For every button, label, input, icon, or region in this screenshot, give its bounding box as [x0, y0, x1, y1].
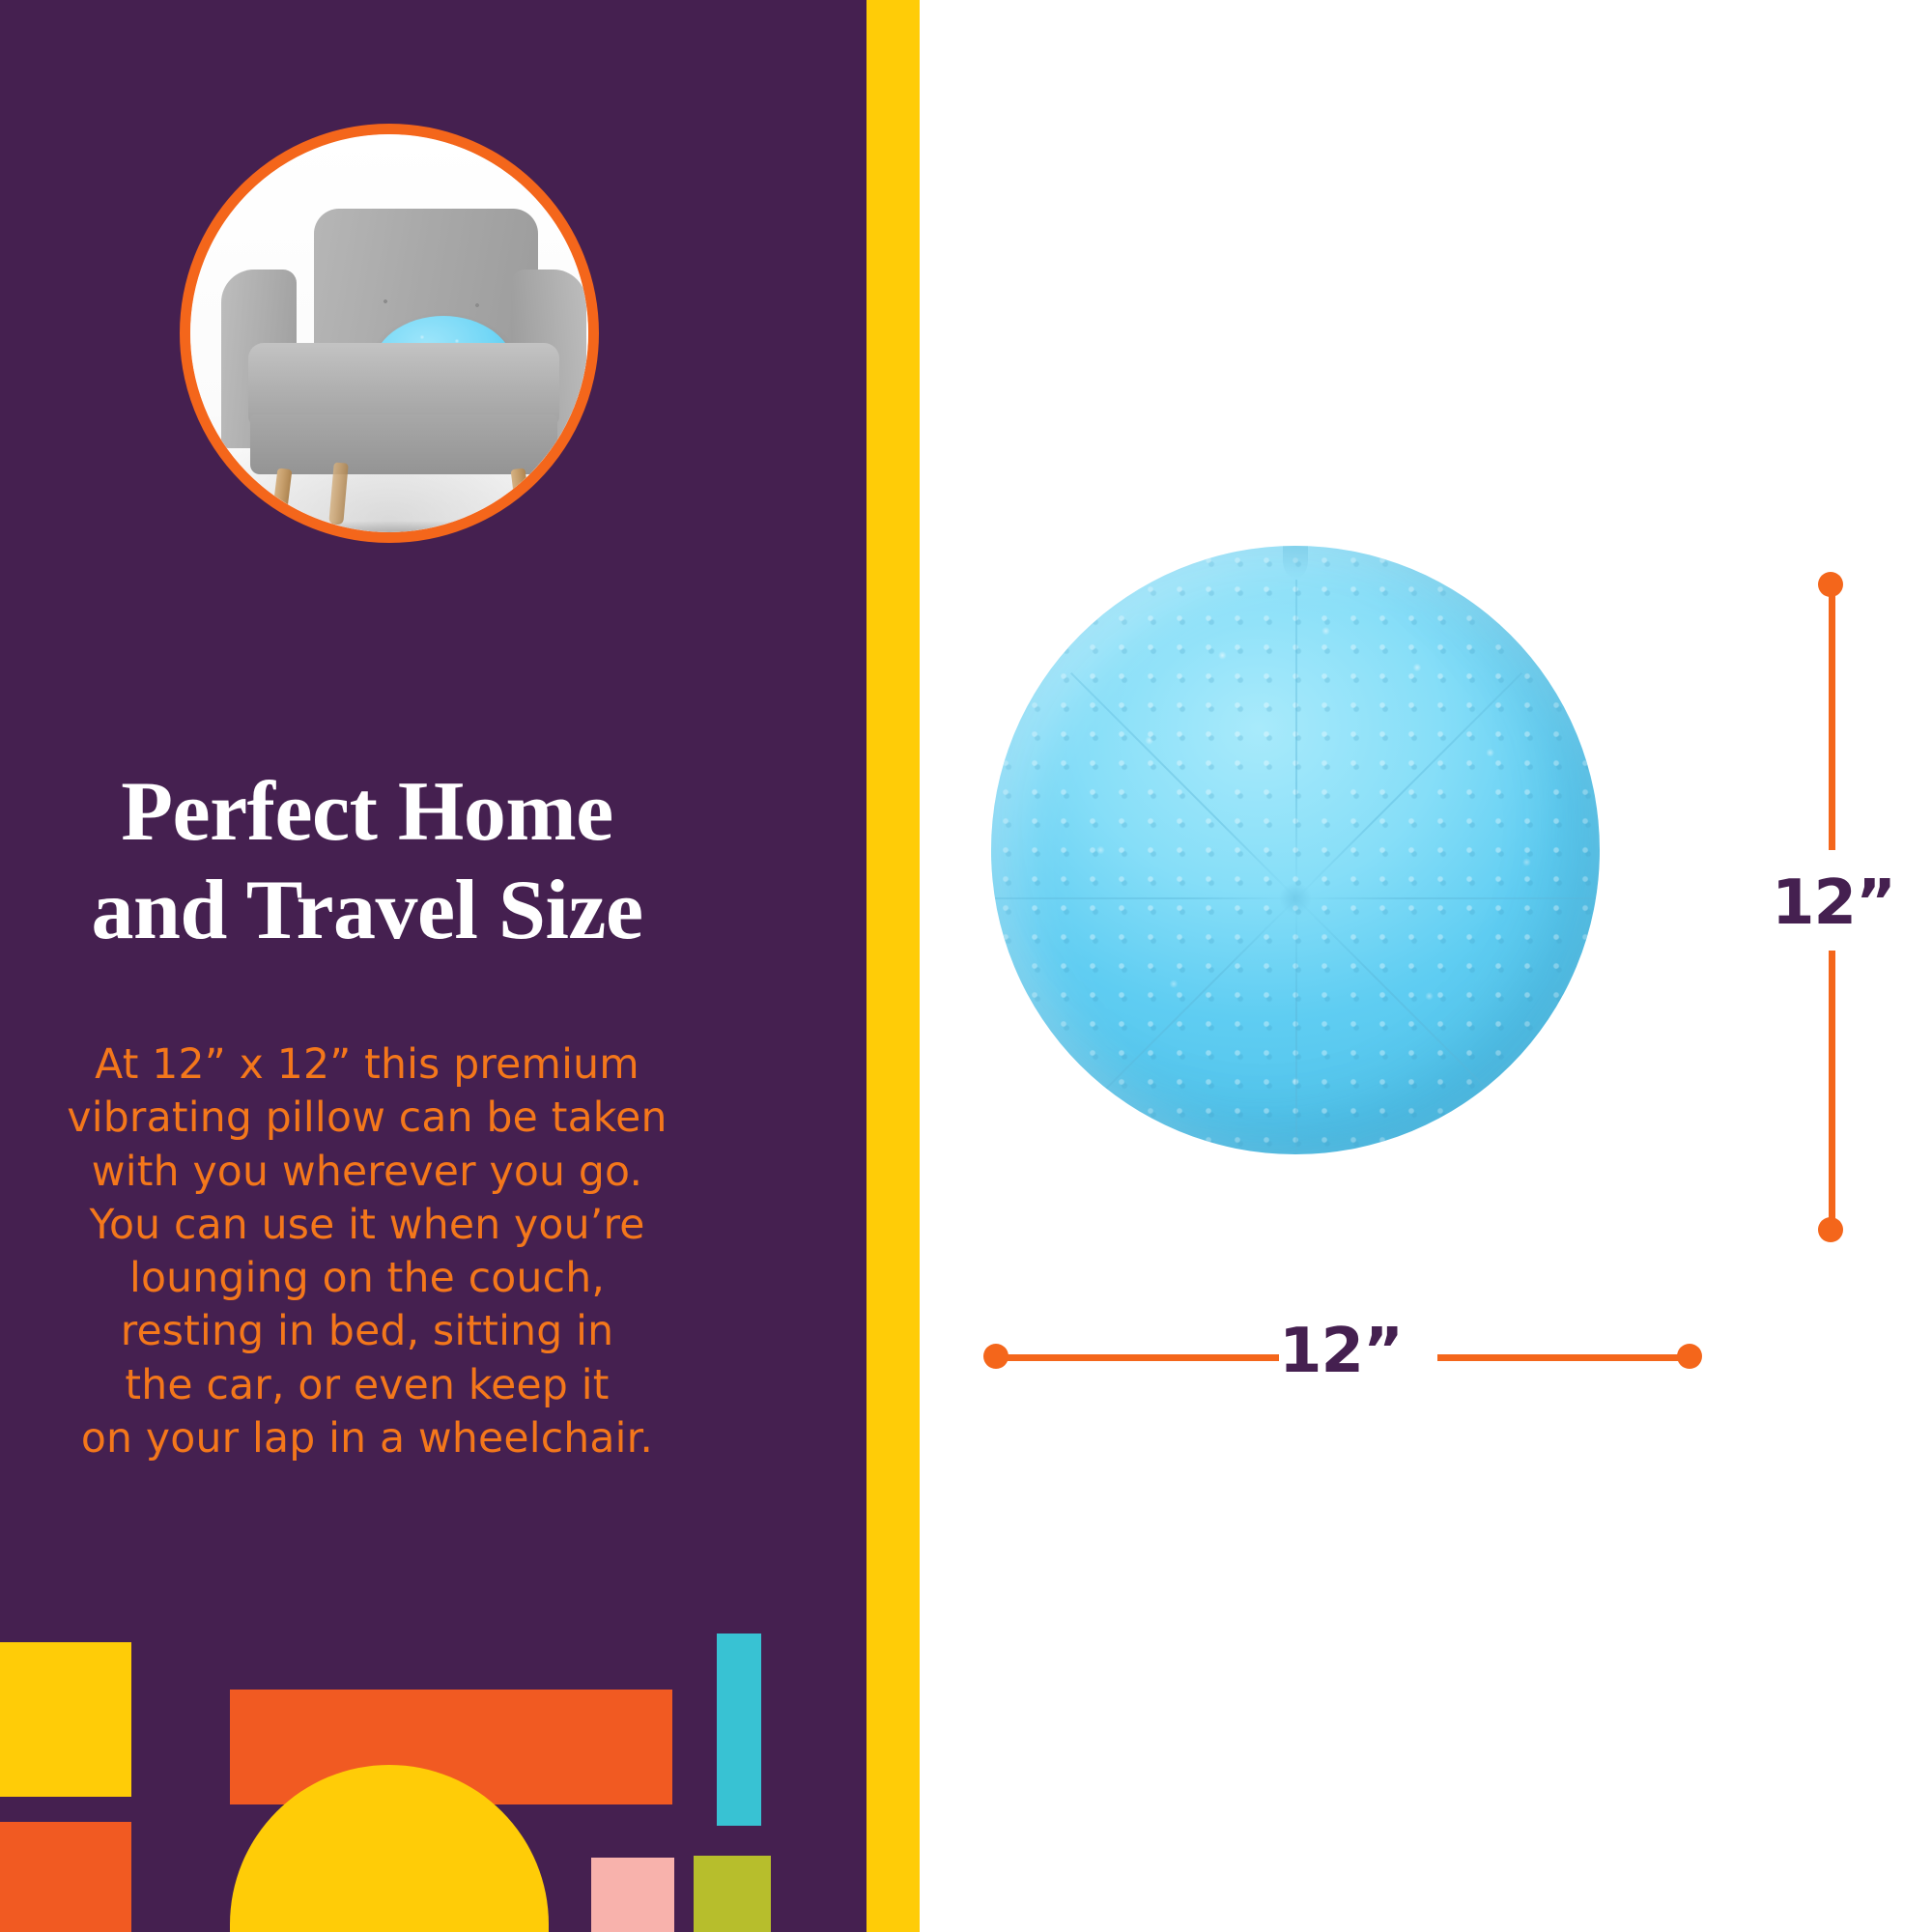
divider-stripe [867, 0, 920, 1932]
dimension-line-segment [999, 1354, 1279, 1361]
body-line-8: on your lap in a wheelchair. [0, 1412, 734, 1465]
decor-teal-bar [717, 1634, 761, 1826]
armchair-floor-shadow [235, 521, 573, 532]
body-line-1: At 12” x 12” this premium [0, 1038, 734, 1092]
armchair-base [250, 414, 557, 474]
body-line-4: You can use it when you’re [0, 1199, 734, 1252]
dimension-line-segment [1437, 1354, 1687, 1361]
pillow-seam [1295, 898, 1297, 1154]
decor-yellow-square [0, 1642, 131, 1797]
dimension-line-segment [1829, 587, 1835, 850]
headline: Perfect Home and Travel Size [0, 763, 734, 960]
decor-olive-square [694, 1856, 771, 1932]
pillow-seam [1295, 580, 1297, 898]
body-line-2: vibrating pillow can be taken [0, 1092, 734, 1145]
dimension-line-segment [1829, 951, 1835, 1229]
headline-line-1: Perfect Home [0, 763, 734, 862]
body-line-7: the car, or even keep it [0, 1359, 734, 1412]
left-info-panel: Perfect Home and Travel Size At 12” x 12… [0, 0, 867, 1932]
width-dimension-label: 12” [1273, 1316, 1408, 1387]
dimension-endpoint-dot [1818, 1217, 1843, 1242]
body-copy: At 12” x 12” this premium vibrating pill… [0, 1038, 734, 1465]
decor-pink-bar [591, 1858, 674, 1932]
dimension-endpoint-dot [1677, 1344, 1702, 1369]
body-line-3: with you wherever you go. [0, 1146, 734, 1199]
product-pillow-image [991, 546, 1600, 1154]
height-dimension-label: 12” [1766, 867, 1901, 939]
lifestyle-photo-circle [180, 124, 599, 543]
body-line-5: lounging on the couch, [0, 1252, 734, 1305]
armchair-photo [190, 134, 588, 532]
headline-line-2: and Travel Size [0, 862, 734, 960]
body-line-6: resting in bed, sitting in [0, 1305, 734, 1358]
decor-orange-square [0, 1822, 131, 1932]
